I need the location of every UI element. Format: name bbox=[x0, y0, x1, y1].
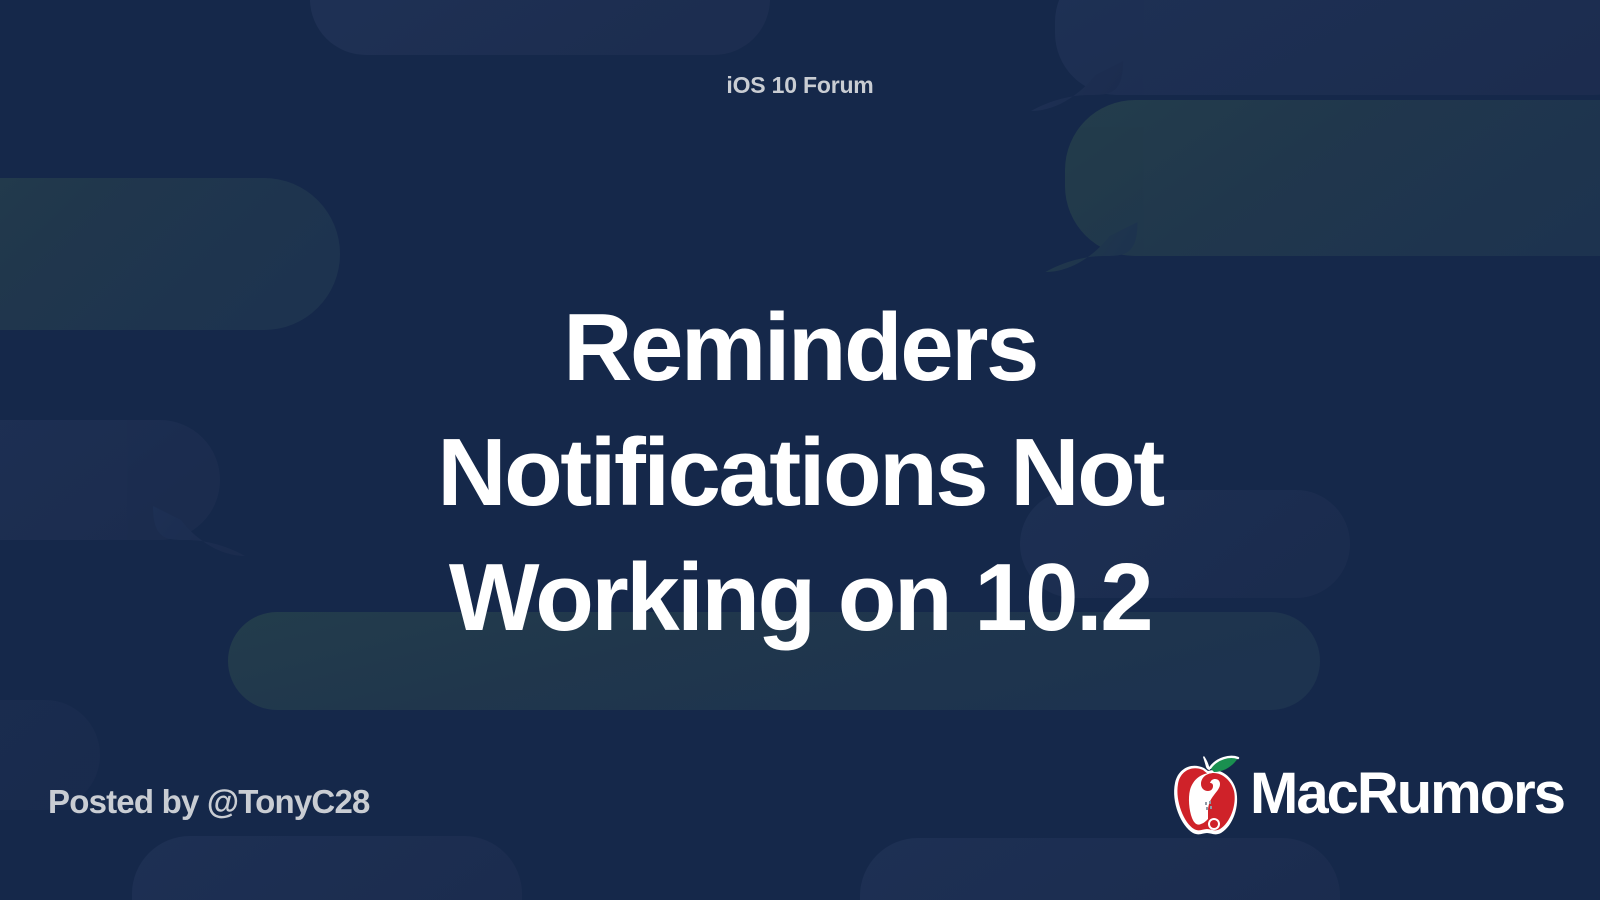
macrumors-apple-logo-icon bbox=[1170, 750, 1244, 838]
page-title: Reminders Notifications Not Working on 1… bbox=[330, 286, 1270, 660]
byline: Posted by @TonyC28 bbox=[48, 785, 370, 818]
brand-logo: MacRumors bbox=[1170, 750, 1564, 838]
forum-label: iOS 10 Forum bbox=[0, 74, 1600, 97]
social-share-card: iOS 10 Forum Reminders Notifications Not… bbox=[0, 0, 1600, 900]
brand-wordmark: MacRumors bbox=[1250, 765, 1564, 823]
